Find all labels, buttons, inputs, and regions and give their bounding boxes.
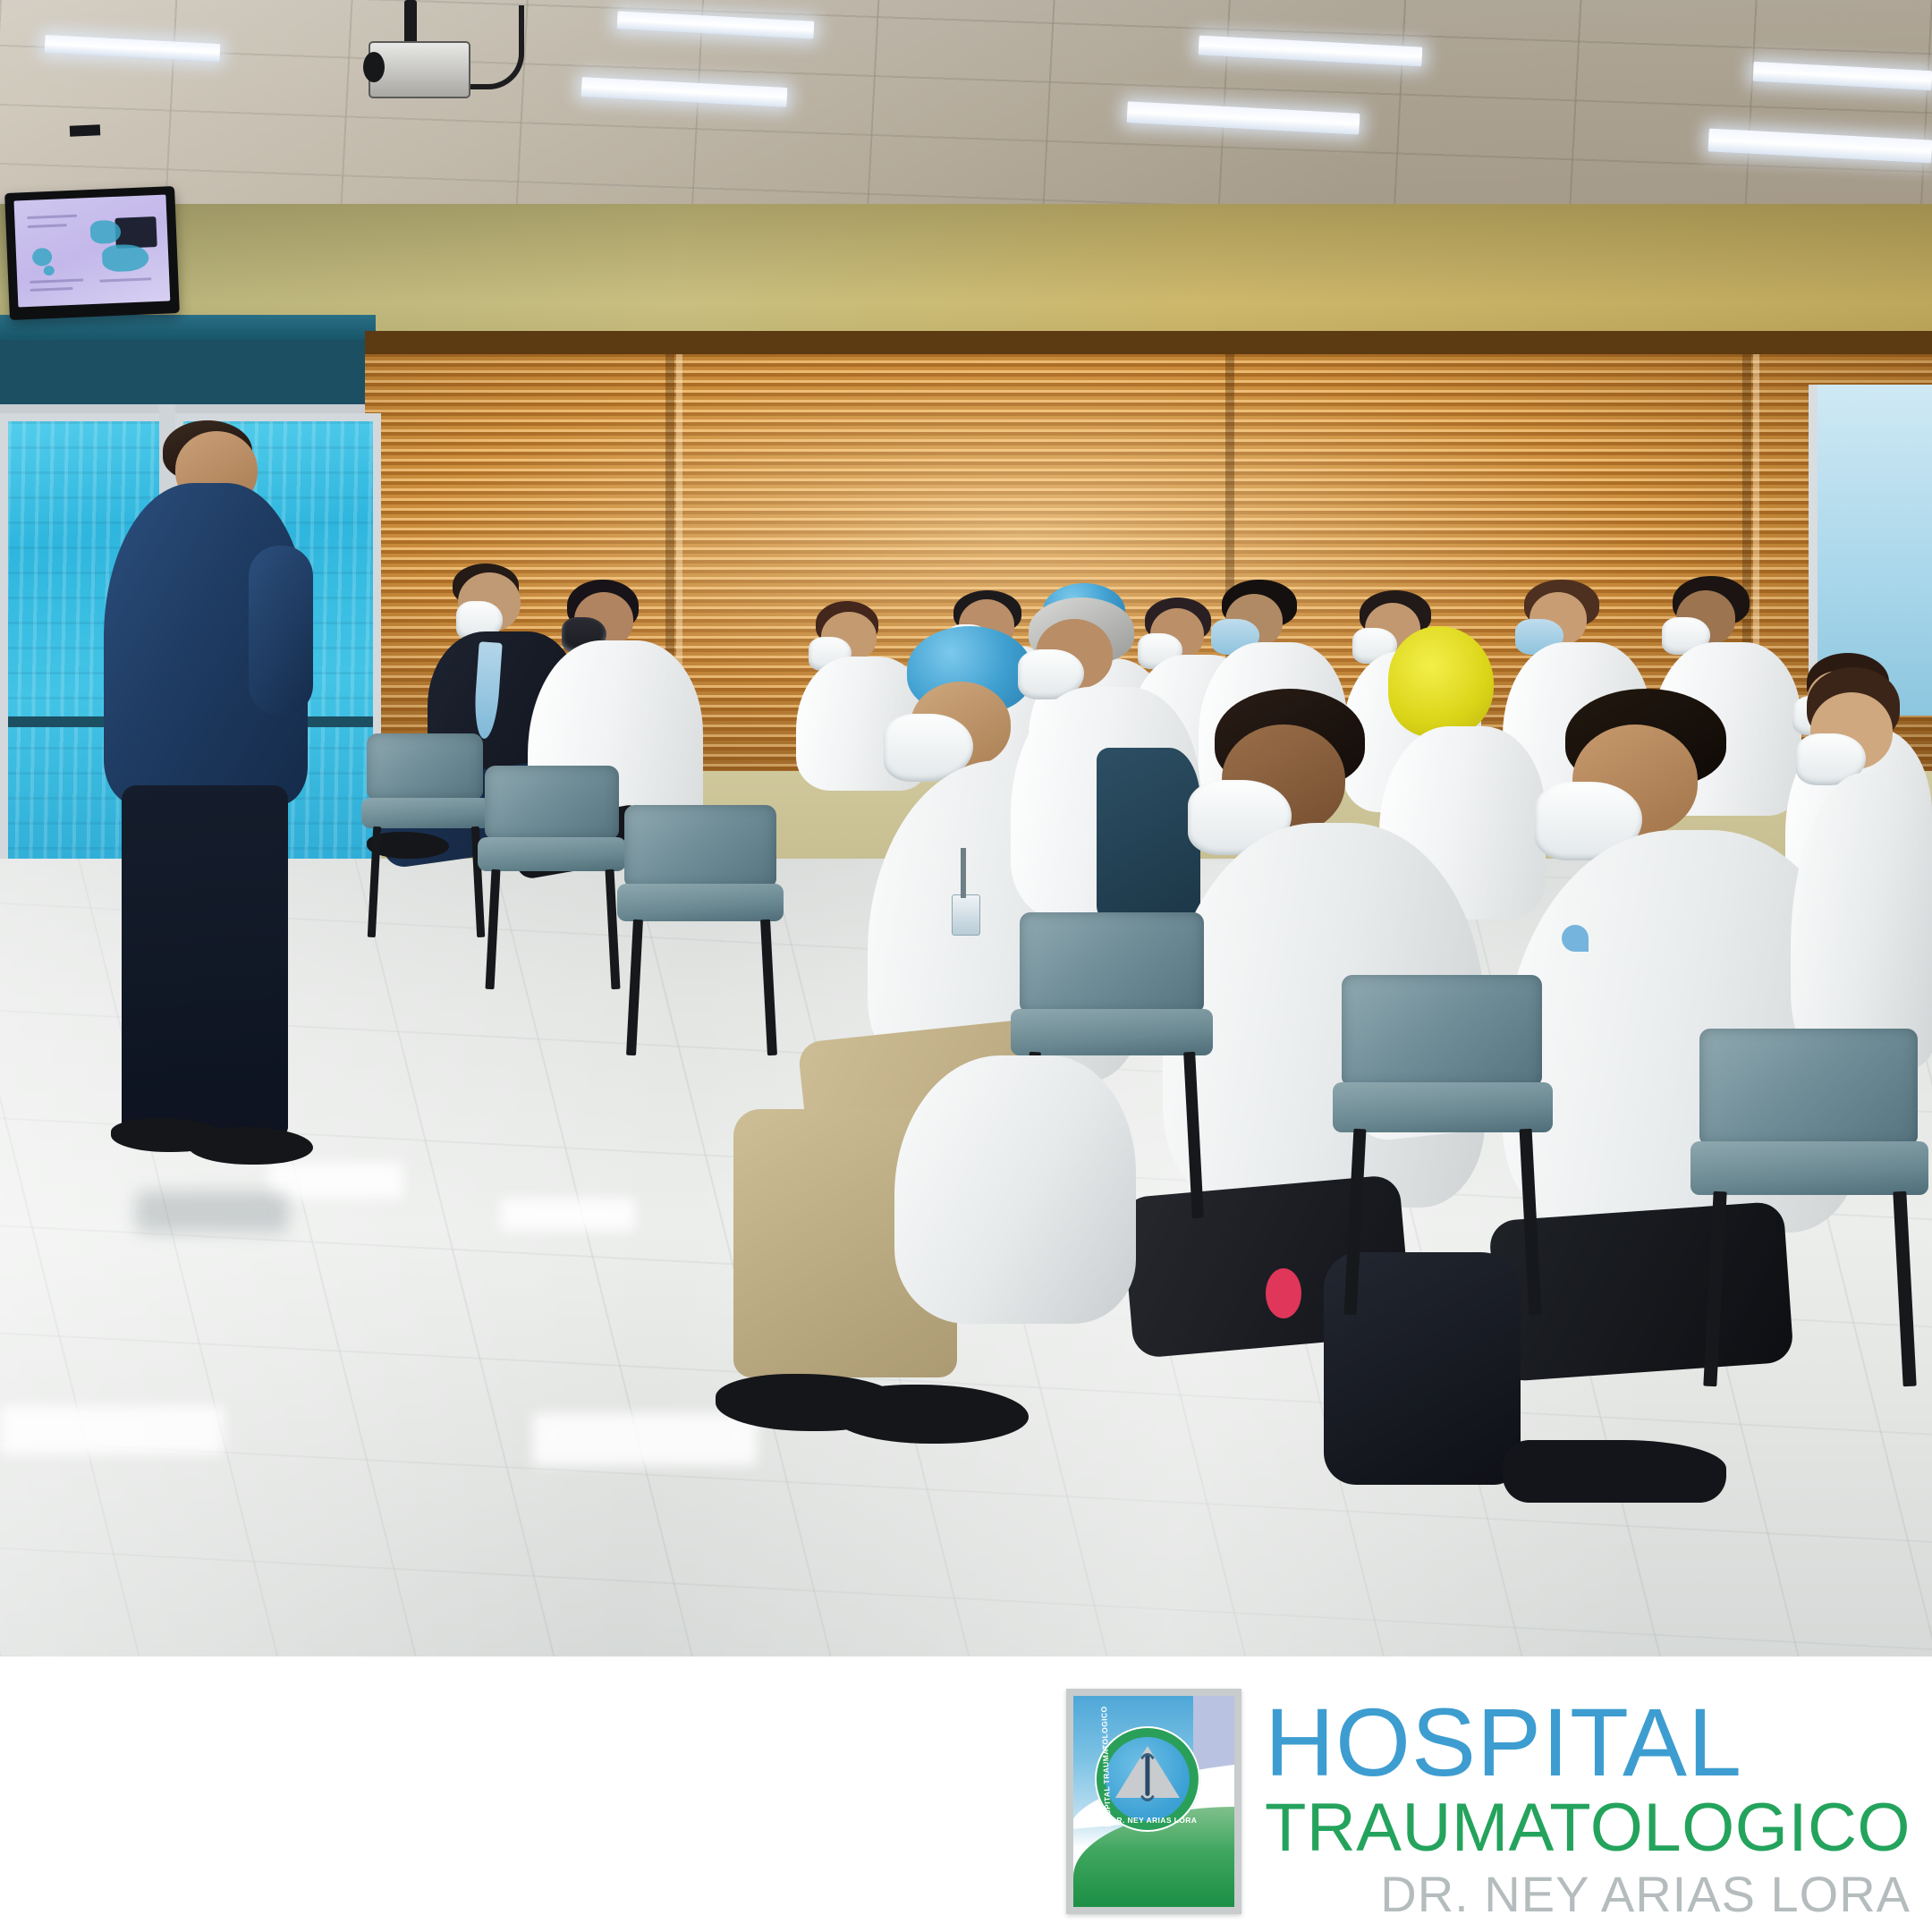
photo-scene <box>0 0 1932 1657</box>
chair-3 <box>617 805 787 1055</box>
projector-mount-pole <box>404 0 417 47</box>
speaker-shoe-right <box>188 1127 313 1165</box>
chair-5 <box>1333 975 1556 1315</box>
chair-leg <box>1344 1129 1367 1315</box>
emblem-seal-ring: HOSPITAL TRAUMATOLOGICO DR. NEY ARIAS LO… <box>1095 1726 1200 1832</box>
chair-back <box>367 733 483 800</box>
floor-reflection-4 <box>501 1199 635 1231</box>
chair-back <box>1020 912 1204 1013</box>
chair-leg <box>486 869 501 989</box>
chair-leg <box>1183 1052 1204 1218</box>
monitor-screen <box>13 194 170 307</box>
person-shoes-dark-right <box>1503 1440 1726 1503</box>
logo-line-doctor-name: DR. NEY ARIAS LORA <box>1265 1869 1911 1919</box>
monitor-graphic-4 <box>44 266 55 275</box>
emblem-ring-bottom-text: DR. NEY ARIAS LORA <box>1111 1816 1197 1825</box>
chair-6 <box>1690 1029 1932 1386</box>
chair-1 <box>361 733 496 939</box>
monitor-graphic-2 <box>102 243 149 272</box>
chair-leg <box>1893 1191 1916 1386</box>
id-badge <box>952 894 980 936</box>
speaker-person <box>98 411 349 1234</box>
floor-reflection-2 <box>533 1413 757 1465</box>
chair-seat <box>478 837 626 871</box>
projector-lens <box>363 52 385 82</box>
teal-wall-strip <box>0 315 376 340</box>
hospital-logo: HOSPITAL TRAUMATOLOGICO DR. NEY ARIAS LO… <box>1066 1689 1911 1919</box>
wall-monitor <box>4 186 180 320</box>
monitor-text-line-4 <box>30 287 73 292</box>
badge-lanyard <box>961 848 966 898</box>
chair-leg <box>1703 1191 1726 1386</box>
monitor-stand <box>70 124 100 136</box>
red-object <box>1266 1268 1301 1318</box>
chair-seat <box>1333 1082 1553 1132</box>
white-coat <box>1791 773 1932 1068</box>
logo-line-traumatologico: TRAUMATOLOGICO <box>1265 1794 1911 1862</box>
hospital-emblem: HOSPITAL TRAUMATOLOGICO DR. NEY ARIAS LO… <box>1066 1689 1241 1914</box>
chair-back <box>1342 975 1542 1086</box>
chair-seat <box>1011 1009 1213 1055</box>
page-root: HOSPITAL TRAUMATOLOGICO DR. NEY ARIAS LO… <box>0 0 1932 1932</box>
chair-leg <box>1520 1129 1542 1315</box>
monitor-text-line-1 <box>27 215 77 219</box>
floor-reflection-1 <box>0 1406 224 1454</box>
logo-line-hospital: HOSPITAL <box>1265 1694 1911 1791</box>
emblem-inner: HOSPITAL TRAUMATOLOGICO DR. NEY ARIAS LO… <box>1073 1696 1234 1907</box>
chair-leg <box>626 919 643 1055</box>
blind-headrail <box>365 331 1932 354</box>
monitor-text-line-2 <box>28 224 67 228</box>
logo-wordmark: HOSPITAL TRAUMATOLOGICO DR. NEY ARIAS LO… <box>1265 1689 1911 1919</box>
chair-leg <box>760 919 777 1055</box>
monitor-dark-panel <box>114 216 157 249</box>
dress-shoe-right <box>832 1385 1029 1444</box>
projector-cable <box>465 5 524 89</box>
coat-logo <box>1562 925 1589 952</box>
emblem-ring-top-text: HOSPITAL TRAUMATOLOGICO <box>1099 1706 1113 1826</box>
speaker-trousers <box>122 785 288 1136</box>
chair-2 <box>478 766 630 989</box>
monitor-graphic-3 <box>32 248 53 267</box>
chair-seat <box>617 884 784 921</box>
door-transom <box>0 340 365 413</box>
ceiling <box>0 0 1932 224</box>
white-coat-drape <box>894 1055 1136 1324</box>
emblem-ring-text: HOSPITAL TRAUMATOLOGICO DR. NEY ARIAS LO… <box>1095 1726 1200 1832</box>
chair-back <box>1699 1029 1918 1145</box>
chair-leg <box>368 826 381 937</box>
chair-back <box>624 805 776 887</box>
monitor-text-line-5 <box>99 277 151 282</box>
ceiling-shading <box>0 0 1932 224</box>
speaker-arm <box>249 546 313 716</box>
chair-seat <box>1690 1141 1928 1195</box>
footer-logo-bar: HOSPITAL TRAUMATOLOGICO DR. NEY ARIAS LO… <box>0 1657 1932 1932</box>
chair-back <box>485 766 619 839</box>
monitor-text-line-3 <box>30 278 83 284</box>
chair-seat <box>361 798 492 828</box>
